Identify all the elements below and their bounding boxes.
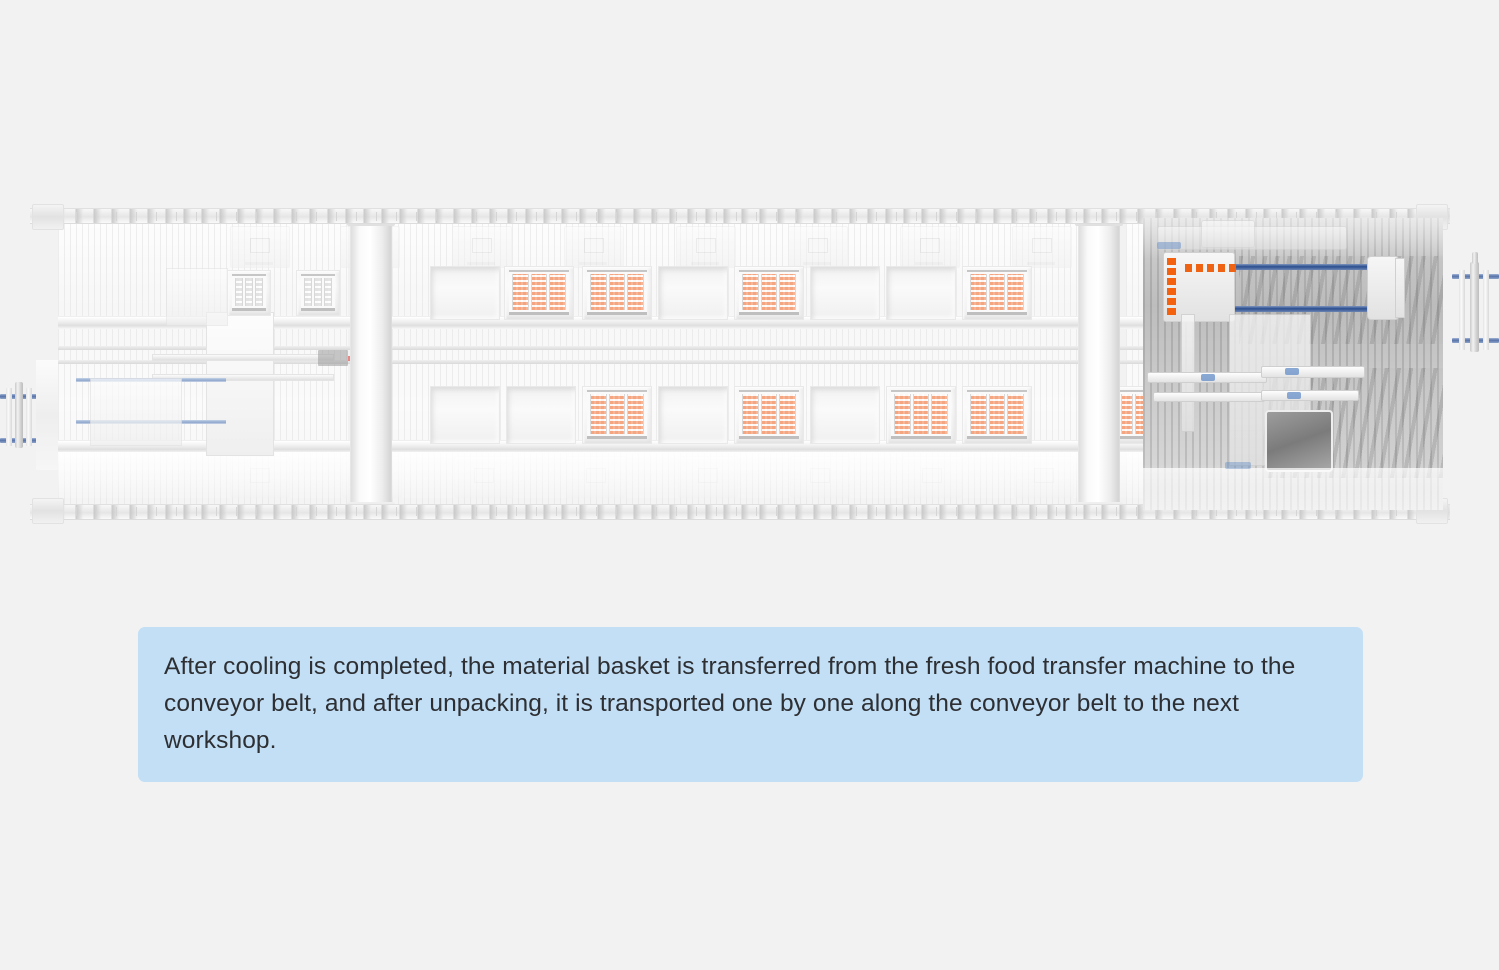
caption-text: After cooling is completed, the material… (164, 649, 1337, 760)
roof-module (788, 226, 848, 268)
tray-column (531, 274, 548, 310)
basket-tray (967, 270, 1027, 315)
roof-module (1012, 226, 1072, 268)
tray-column (235, 278, 243, 306)
tray-column (314, 278, 322, 306)
orange-indicator-column (1167, 258, 1176, 315)
basket-slot-filled[interactable] (734, 266, 804, 320)
conveyor-post-b (1483, 270, 1489, 350)
basket-slot-empty[interactable] (810, 386, 880, 444)
orange-indicator (1167, 308, 1176, 315)
basket-slot-filled[interactable] (582, 386, 652, 444)
basket-slot-empty[interactable] (658, 386, 728, 444)
tray-column (894, 394, 911, 434)
basket-tray (232, 274, 266, 311)
tray-column (989, 394, 1006, 434)
basket-slot-filled[interactable] (734, 386, 804, 444)
module-screen-icon (1032, 238, 1052, 253)
roof-module (452, 226, 512, 268)
tray-column (324, 278, 332, 306)
tray-column (512, 274, 529, 310)
tray-column (1007, 274, 1024, 310)
basket-slot-filled[interactable] (582, 266, 652, 320)
module-screen-icon (584, 238, 604, 253)
transfer-fork-center (1261, 366, 1365, 378)
roof-module (900, 226, 960, 268)
transfer-fork-lower (1153, 392, 1265, 402)
roof-module (676, 226, 736, 268)
module-foot (915, 262, 943, 265)
bay-floor-reflection (1143, 468, 1443, 510)
tray-column (627, 394, 644, 434)
basket-slot-empty[interactable] (658, 266, 728, 320)
tray-column (609, 394, 626, 434)
tray-column (913, 394, 930, 434)
tray-column (779, 274, 796, 310)
fresh-food-transfer-machine-bay (1143, 218, 1443, 510)
tray-column (1007, 394, 1024, 434)
tray-column (549, 274, 566, 310)
conveyor-post-left (6, 388, 12, 446)
orange-indicator (1167, 298, 1176, 305)
machine-illustration (0, 0, 1499, 600)
tray-column (779, 394, 796, 434)
orange-indicator (1167, 288, 1176, 295)
orange-indicator (1167, 258, 1176, 265)
unpacking-arm-upper (152, 354, 334, 361)
basket-slot-pale[interactable] (227, 270, 271, 316)
roof-module (230, 226, 290, 268)
basket-slot-empty[interactable] (430, 266, 500, 320)
basket-slot-empty[interactable] (886, 266, 956, 320)
fork-sensor-tag-c (1287, 392, 1301, 399)
tray-column (1121, 394, 1134, 434)
roof-module (564, 226, 624, 268)
tray-column (245, 278, 253, 306)
tray-column (931, 394, 948, 434)
basket-slot-filled[interactable] (504, 266, 574, 320)
tray-column (590, 394, 607, 434)
orange-indicator (1207, 264, 1214, 272)
basket-slot-empty[interactable] (810, 266, 880, 320)
tray-column (609, 274, 626, 310)
basket-tray (509, 270, 569, 315)
gantry-trolley (1201, 220, 1255, 248)
module-screen-icon (920, 238, 940, 253)
unpacking-head (206, 312, 274, 456)
basket-tray (739, 390, 799, 439)
unpacking-frame (166, 268, 228, 326)
tray-column (742, 274, 759, 310)
orange-indicator (1167, 278, 1176, 285)
tray-column (590, 274, 607, 310)
module-foot (1027, 262, 1055, 265)
tray-column (761, 394, 778, 434)
tray-column (627, 274, 644, 310)
caption-banner: After cooling is completed, the material… (138, 627, 1363, 782)
structural-column-left (350, 212, 392, 516)
basket-tray (739, 270, 799, 315)
basket-tray (587, 270, 647, 315)
left-bay-cabinet (90, 378, 182, 446)
tray-column (989, 274, 1006, 310)
structural-column-right (1078, 212, 1120, 516)
lift-carriage-guide (1395, 258, 1405, 318)
basket-tray (301, 274, 335, 311)
module-screen-icon (696, 238, 716, 253)
module-screen-icon (472, 238, 492, 253)
fork-sensor-tag-b (1285, 368, 1299, 375)
basket-slot-filled[interactable] (962, 386, 1032, 444)
right-conveyor-stub (1452, 262, 1499, 358)
conveyor-cylinder-right (1470, 262, 1479, 352)
orange-indicator-row (1185, 264, 1236, 272)
tray-column (304, 278, 312, 306)
orange-indicator (1185, 264, 1192, 272)
conveyor-cylinder-cap (1472, 252, 1478, 264)
orange-indicator (1196, 264, 1203, 272)
conveyor-cylinder-left (15, 382, 23, 448)
orange-indicator (1167, 268, 1176, 275)
basket-slot-filled[interactable] (886, 386, 956, 444)
module-screen-icon (808, 238, 828, 253)
outfeed-window (1265, 410, 1333, 472)
conveyor-post-a (1459, 270, 1465, 350)
fork-sensor-tag-a (1201, 374, 1215, 381)
tray-column (761, 274, 778, 310)
basket-tray (587, 390, 647, 439)
basket-tray (967, 390, 1027, 439)
basket-slot-pale[interactable] (296, 270, 340, 316)
basket-slot-empty[interactable] (430, 386, 500, 444)
bay-label-tag-b (1225, 462, 1251, 469)
orange-indicator (1229, 264, 1236, 272)
tray-column (255, 278, 263, 306)
module-foot (803, 262, 831, 265)
module-foot (691, 262, 719, 265)
corner-cap-bottom-left (32, 498, 64, 524)
transfer-fork-center-lower (1261, 390, 1359, 401)
corner-cap-top-left (32, 204, 64, 230)
module-screen-icon (250, 238, 270, 253)
tray-column (970, 274, 987, 310)
basket-slot-filled[interactable] (962, 266, 1032, 320)
module-foot (245, 262, 273, 265)
basket-slot-empty[interactable] (506, 386, 576, 444)
bay-label-tag-a (1157, 242, 1181, 249)
module-foot (467, 262, 495, 265)
basket-tray (891, 390, 951, 439)
orange-indicator (1218, 264, 1225, 272)
tray-column (970, 394, 987, 434)
unpacking-actuator (318, 350, 348, 366)
tray-column (742, 394, 759, 434)
module-foot (579, 262, 607, 265)
